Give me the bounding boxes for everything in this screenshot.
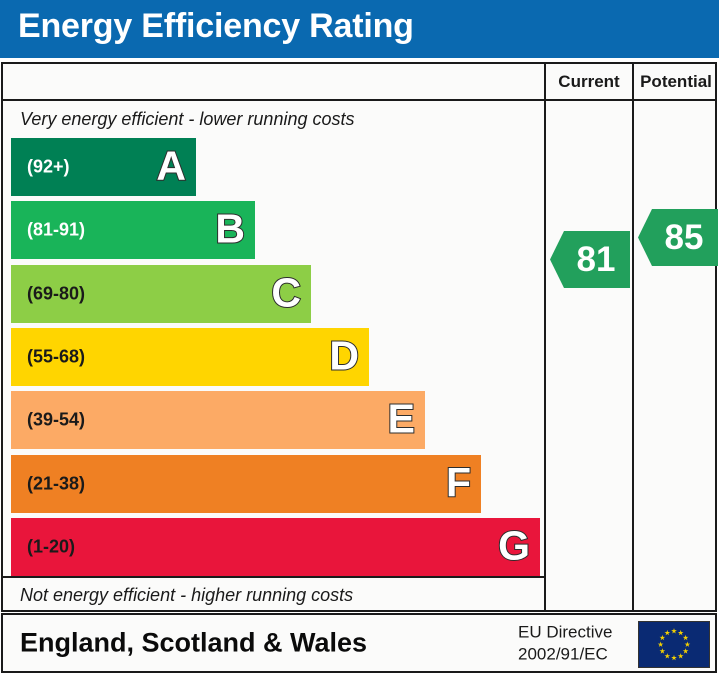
band-f: (21-38)F <box>11 455 481 513</box>
band-c: (69-80)C <box>11 265 311 323</box>
band-g: (1-20)G <box>11 518 540 576</box>
band-a: (92+)A <box>11 138 196 196</box>
band-letter-f: F <box>446 462 471 503</box>
caption-inefficient: Not energy efficient - higher running co… <box>3 576 544 610</box>
band-letter-a: A <box>156 146 186 187</box>
page-title: Energy Efficiency Rating <box>18 7 414 46</box>
column-header-potential: Potential <box>634 64 718 99</box>
column-header-current: Current <box>546 64 632 99</box>
band-letter-e: E <box>388 399 415 440</box>
band-range-c: (69-80) <box>27 283 85 304</box>
footer: England, Scotland & Wales EU Directive 2… <box>1 613 717 673</box>
footer-directive-line2: 2002/91/EC <box>518 643 612 665</box>
band-range-a: (92+) <box>27 157 70 178</box>
band-b: (81-91)B <box>11 201 255 259</box>
rating-value-potential: 85 <box>653 220 704 255</box>
rating-value-current: 81 <box>565 242 616 277</box>
eu-flag-icon <box>638 621 710 668</box>
band-letter-g: G <box>498 525 530 566</box>
eu-flag-stars <box>639 622 709 667</box>
band-range-g: (1-20) <box>27 536 75 557</box>
footer-directive-line1: EU Directive <box>518 621 612 643</box>
rating-marker-current: 81 <box>550 231 630 288</box>
footer-directive: EU Directive 2002/91/EC <box>518 621 612 665</box>
band-letter-c: C <box>271 272 301 313</box>
band-letter-b: B <box>215 209 245 250</box>
band-d: (55-68)D <box>11 328 369 386</box>
band-range-f: (21-38) <box>27 473 85 494</box>
rating-chart: Current Potential Very energy efficient … <box>1 62 717 612</box>
column-divider-right <box>632 64 634 610</box>
table-header-row: Current Potential <box>3 64 715 101</box>
band-range-b: (81-91) <box>27 220 85 241</box>
band-range-d: (55-68) <box>27 346 85 367</box>
caption-efficient: Very energy efficient - lower running co… <box>3 101 544 137</box>
footer-region-label: England, Scotland & Wales <box>20 628 367 659</box>
band-list: (92+)A(81-91)B(69-80)C(55-68)D(39-54)E(2… <box>3 137 544 576</box>
column-divider-left <box>544 64 546 610</box>
rating-marker-potential: 85 <box>638 209 718 266</box>
band-e: (39-54)E <box>11 391 425 449</box>
band-range-e: (39-54) <box>27 410 85 431</box>
energy-efficiency-rating-certificate: Energy Efficiency Rating Current Potenti… <box>0 0 719 675</box>
title-bar: Energy Efficiency Rating <box>0 0 719 58</box>
band-letter-d: D <box>329 336 359 377</box>
